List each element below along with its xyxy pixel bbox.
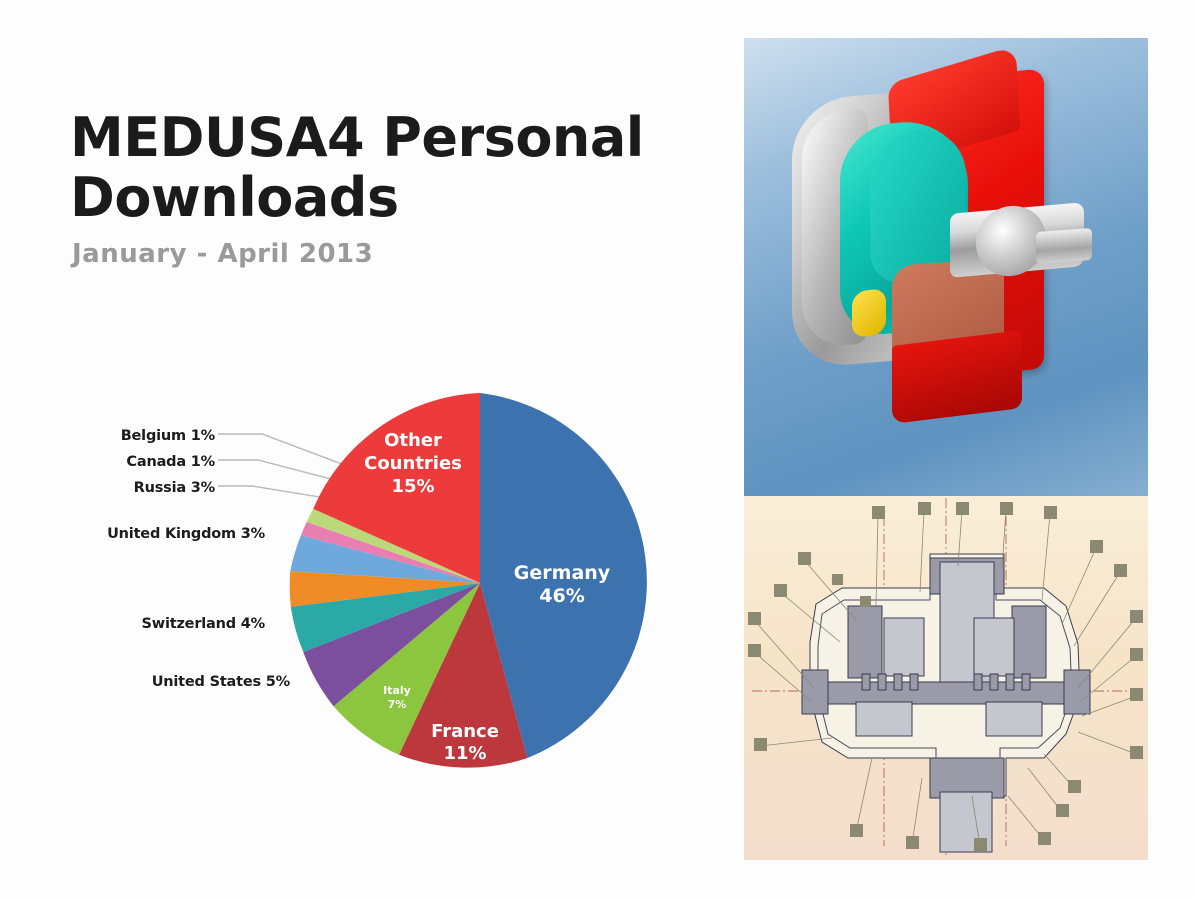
pie-label-other-l3: 15% (391, 476, 434, 497)
title-block: MEDUSA4 Personal Downloads January - Apr… (70, 108, 690, 269)
section-drawing-svg (744, 496, 1148, 860)
callout-label-russia: Russia 3% (134, 480, 215, 496)
pie-chart-area: Germany 46% France 11% Italy 7% Other Co… (0, 370, 720, 840)
pie-svg: Germany 46% France 11% Italy 7% Other Co… (285, 388, 675, 778)
pie-label-italy-name: Italy (383, 684, 411, 697)
callout-label-belgium: Belgium 1% (121, 428, 215, 444)
page-title: MEDUSA4 Personal Downloads (70, 108, 690, 229)
pie-label-italy-value: 7% (388, 698, 407, 711)
left-content-column: MEDUSA4 Personal Downloads January - Apr… (0, 0, 720, 900)
3d-cutaway-gearbox-render (744, 38, 1148, 496)
pie-label-germany-name: Germany (514, 562, 611, 584)
gearbox-yellow-seal (852, 288, 886, 339)
pie-label-france-value: 11% (443, 743, 486, 764)
pie-chart: Germany 46% France 11% Italy 7% Other Co… (285, 388, 675, 778)
pie-label-other-l2: Countries (364, 453, 462, 474)
pie-label-other-l1: Other (384, 430, 442, 451)
page-subtitle: January - April 2013 (72, 239, 690, 269)
gearbox-shaft-end (1036, 228, 1092, 264)
cad-images-column (744, 38, 1148, 860)
gearbox-red-base (892, 330, 1022, 424)
callout-label-switzerland: Switzerland 4% (142, 616, 266, 632)
callout-label-united-states: United States 5% (152, 674, 290, 690)
callout-label-united-kingdom: United Kingdom 3% (107, 526, 265, 542)
2d-section-drawing (744, 496, 1148, 860)
pie-label-germany-value: 46% (539, 585, 584, 607)
callout-label-canada: Canada 1% (126, 454, 215, 470)
pie-label-france-name: France (431, 721, 499, 742)
